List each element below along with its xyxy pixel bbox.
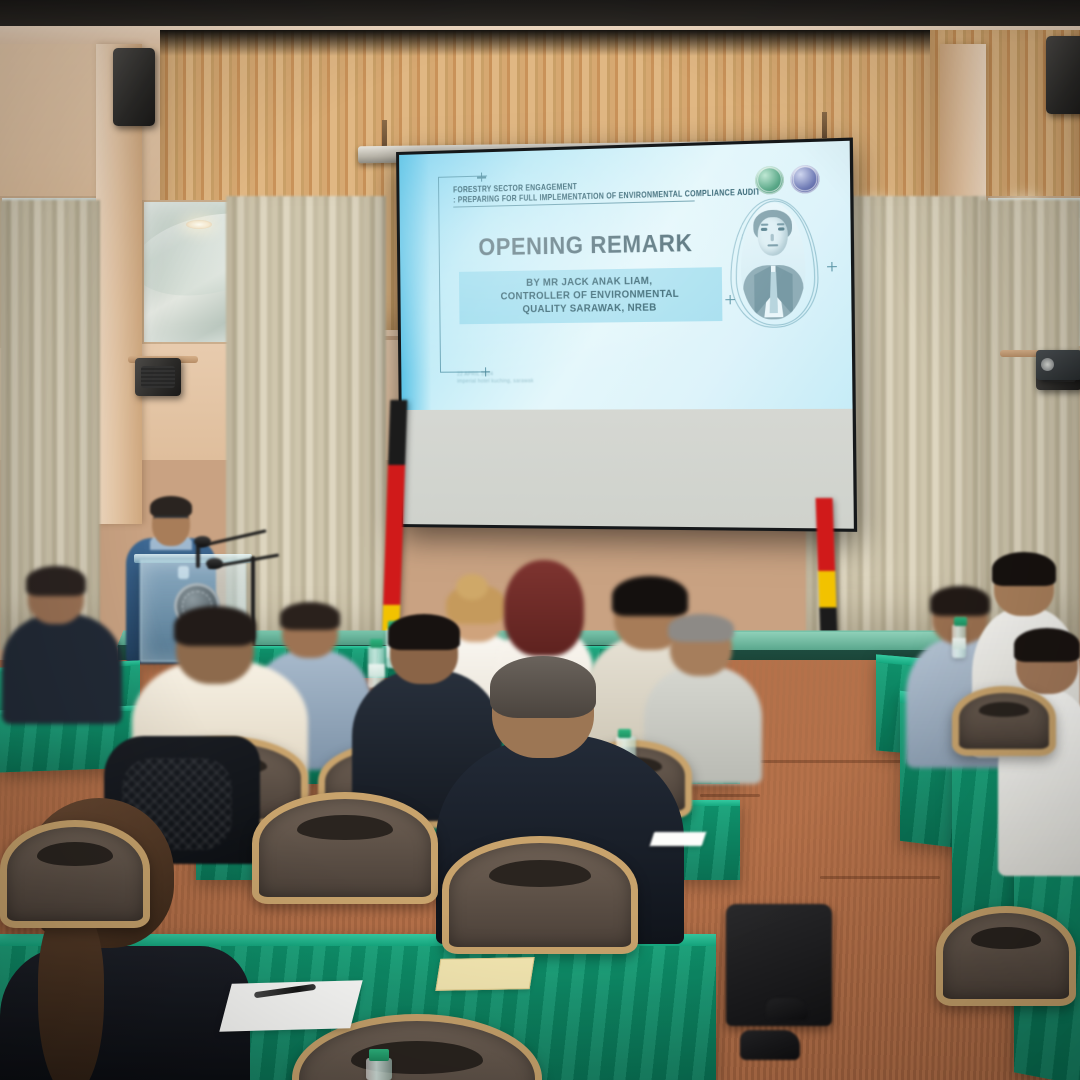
- attendee-hair: [930, 586, 990, 616]
- attendee-hair: [388, 614, 460, 650]
- attendee-hair: [612, 576, 688, 616]
- slide-header: FORESTRY SECTOR ENGAGEMENT : PREPARING F…: [453, 177, 749, 208]
- wall-shadow: [160, 30, 930, 56]
- banquet-chair: [936, 906, 1076, 1006]
- nreb-logo: [755, 165, 784, 194]
- note-paper: [650, 832, 707, 846]
- slide-title: OPENING REMARK: [461, 230, 711, 264]
- attendee-hair: [280, 602, 340, 630]
- wall-speaker-upper-left: [113, 48, 155, 126]
- floor-seam: [700, 794, 760, 797]
- presentation-slide: FORESTRY SECTOR ENGAGEMENT : PREPARING F…: [399, 141, 852, 410]
- portrait-eye-right: [778, 228, 784, 231]
- banquet-chair: [0, 820, 150, 928]
- projection-screen: FORESTRY SECTOR ENGAGEMENT : PREPARING F…: [396, 138, 857, 532]
- screen-hanger-right: [822, 112, 827, 138]
- slide-subtitle-block: BY MR JACK ANAK LIAM, CONTROLLER OF ENVI…: [459, 268, 723, 325]
- note-card: [435, 957, 534, 991]
- attendee-hair-bun: [456, 574, 488, 600]
- attendee-hair: [174, 606, 256, 646]
- portrait-brow-left: [761, 224, 769, 226]
- banquet-chair: [952, 686, 1056, 756]
- attendee-hair: [26, 566, 86, 596]
- slide-cross-mark-top: [477, 173, 486, 182]
- attendee-hair: [668, 614, 734, 642]
- department-logo: [790, 164, 819, 193]
- attendee-hair: [490, 656, 596, 718]
- slide-footer-line2: imperial hotel kuching, sarawak: [457, 378, 657, 387]
- portrait-mouth: [768, 245, 779, 247]
- presenter-glasses: [153, 516, 189, 525]
- screen-surface: FORESTRY SECTOR ENGAGEMENT : PREPARING F…: [399, 141, 854, 529]
- banquet-chair: [252, 792, 438, 904]
- conference-hall-photo: FORESTRY SECTOR ENGAGEMENT : PREPARING F…: [0, 0, 1080, 1080]
- curtain-left: [226, 196, 386, 656]
- wall-speaker-left: [135, 358, 181, 396]
- attendee-hair: [992, 552, 1056, 586]
- microphone-head-right: [206, 558, 223, 569]
- attendee-hair: [1014, 628, 1080, 662]
- banquet-chair: [442, 836, 638, 954]
- speaker-portrait: [733, 198, 814, 330]
- ceiling-spotlight: [186, 220, 212, 229]
- wall-speaker-upper-right: [1046, 36, 1080, 114]
- shoe: [766, 998, 808, 1020]
- slide-logo-group: [755, 164, 820, 194]
- slide-left-strip: [399, 154, 432, 410]
- microphone-head-left: [194, 536, 211, 547]
- portrait-eye-left: [761, 228, 767, 231]
- attendee-torso: [2, 614, 122, 724]
- floor-seam: [760, 760, 910, 763]
- presenter-hair: [150, 496, 192, 518]
- floor-seam: [820, 876, 940, 879]
- wall-projector-right: [1036, 350, 1080, 380]
- attendee-ponytail: [38, 906, 104, 1080]
- screen-hanger-left: [382, 120, 387, 146]
- attendee-hair: [504, 560, 584, 656]
- water-bottle: [952, 624, 966, 658]
- portrait-brow-right: [777, 224, 785, 226]
- slide-subtitle-line3: QUALITY SARAWAK, NREB: [473, 301, 708, 318]
- water-bottle: [366, 1058, 392, 1080]
- shoe: [740, 1030, 800, 1060]
- slide-footer: 22 APRIL 2024 imperial hotel kuching, sa…: [457, 370, 680, 387]
- slide-cross-mark-right: [827, 261, 837, 271]
